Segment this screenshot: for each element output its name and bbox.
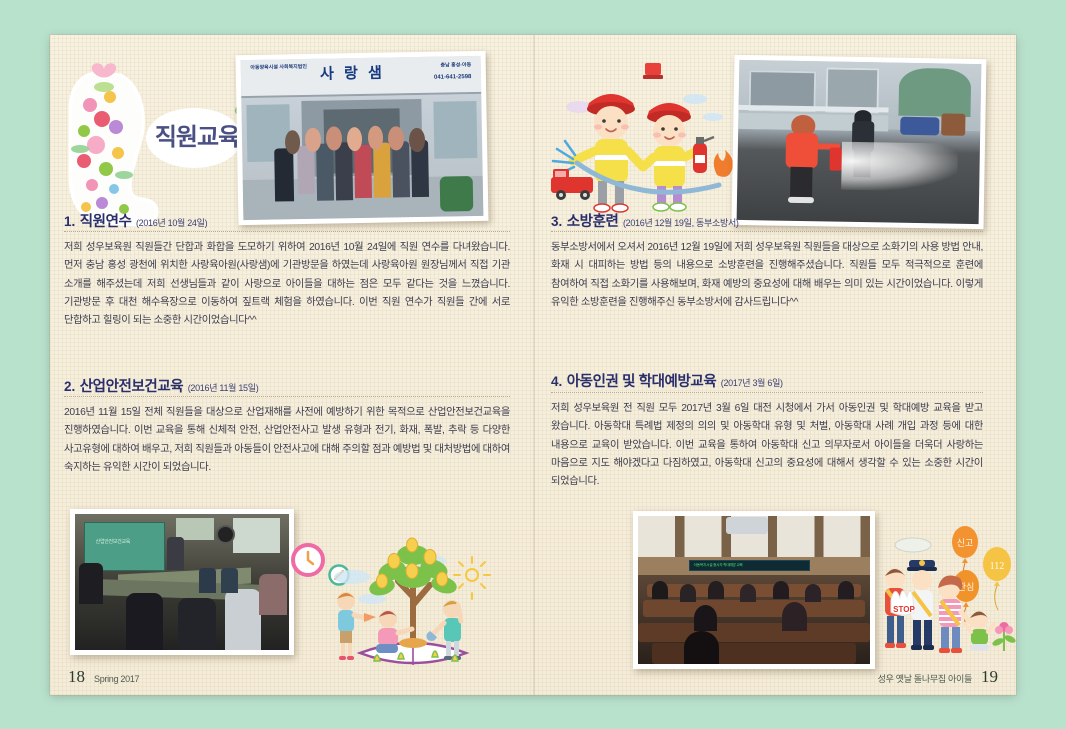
section-2-heading: 2. 산업안전보건교육 (2016년 11월 15일) [64, 375, 258, 396]
section-1-title: 직원연수 [80, 214, 132, 230]
section-1-body: 저희 성우보육원 직원들간 단합과 화합을 도모하기 위하여 2016년 10월… [64, 239, 510, 331]
illustration-safety-family: 신고 112 관심 [873, 520, 1023, 675]
section-1-date: (2016년 10월 24일) [136, 218, 207, 228]
sign-region: 충남 홍성-아동 [440, 61, 471, 69]
photo-safety-training-room: 산업안전보건교육 [70, 509, 294, 655]
right-page: 3. 소방훈련 (2016년 12월 19일, 동부소방서) 동부소방서에서 오… [533, 35, 1016, 695]
section-4-title: 아동인권 및 학대예방교육 [567, 374, 717, 390]
screen-text: 산업안전보건교육 [96, 538, 130, 545]
section-2-body: 2016년 11월 15일 전체 직원들을 대상으로 산업재해를 사전에 예방하… [64, 404, 510, 477]
illustration-children-idea-tree [312, 527, 522, 677]
section-3-rule [551, 231, 983, 232]
sign-subtitle: 아동양육시설 사회복지법인 [250, 64, 307, 72]
page-number-left: 18 [68, 667, 85, 687]
section-4-number: 4. [551, 374, 562, 389]
section-3-title: 소방훈련 [567, 214, 619, 230]
footer-left: 18 Spring 2017 [68, 667, 139, 687]
section-1-number: 1. [64, 214, 75, 229]
section-3-number: 3. [551, 214, 562, 229]
banner-text: 아동복지시설 종사자 학대예방 교육 [694, 563, 743, 568]
section-4-heading: 4. 아동인권 및 학대예방교육 (2017년 3월 6일) [551, 370, 783, 391]
sign-phone: 041-641-2598 [434, 74, 471, 81]
photo-group-sarangsaem: 아동양육시설 사회복지법인 사 랑 샘 충남 홍성-아동 041-641-259… [236, 51, 489, 225]
section-4-date: (2017년 3월 6일) [721, 378, 783, 388]
section-1-heading: 1. 직원연수 (2016년 10월 24일) [64, 210, 207, 231]
section-3-heading: 3. 소방훈련 (2016년 12월 19일, 동부소방서) [551, 210, 739, 231]
section-3-date: (2016년 12월 19일, 동부소방서) [623, 218, 739, 228]
photo-child-rights-lecture: 아동복지시설 종사자 학대예방 교육 [633, 511, 875, 669]
page-number-right: 19 [981, 667, 998, 687]
left-page: 직원교육 아동양육시설 사회복지법인 사 랑 샘 충남 홍성-아동 041-64… [50, 35, 533, 695]
section-4-rule [551, 392, 983, 393]
section-2-rule [64, 396, 510, 397]
photo-fire-extinguisher-drill [732, 55, 987, 229]
illustration-firefighter-kids [545, 55, 735, 215]
footer-left-label: Spring 2017 [94, 674, 139, 684]
section-2-number: 2. [64, 379, 75, 394]
section-4-body: 저희 성우보육원 전 직원 모두 2017년 3월 6일 대전 시청에서 가서 … [551, 400, 983, 492]
balloon-2-label: 112 [990, 561, 1005, 572]
balloon-1-label: 신고 [957, 538, 974, 548]
footer-right-label: 성우 옛날 돌나무집 아이들 [878, 672, 972, 685]
ceiling-projector [726, 517, 768, 533]
section-1-rule [64, 231, 510, 232]
section-2-title: 산업안전보건교육 [80, 379, 184, 395]
sign-main-title: 사 랑 샘 [320, 62, 385, 84]
stop-sign-label: STOP [893, 605, 915, 614]
section-2-date: (2016년 11월 15일) [188, 383, 259, 393]
magazine-spread: 직원교육 아동양육시설 사회복지법인 사 랑 샘 충남 홍성-아동 041-64… [50, 35, 1016, 695]
footer-right: 성우 옛날 돌나무집 아이들 19 [878, 667, 998, 687]
section-3-body: 동부소방서에서 오셔서 2016년 12월 19일에 저희 성우보육원 직원들을… [551, 239, 983, 312]
page-title: 직원교육 [142, 117, 252, 152]
